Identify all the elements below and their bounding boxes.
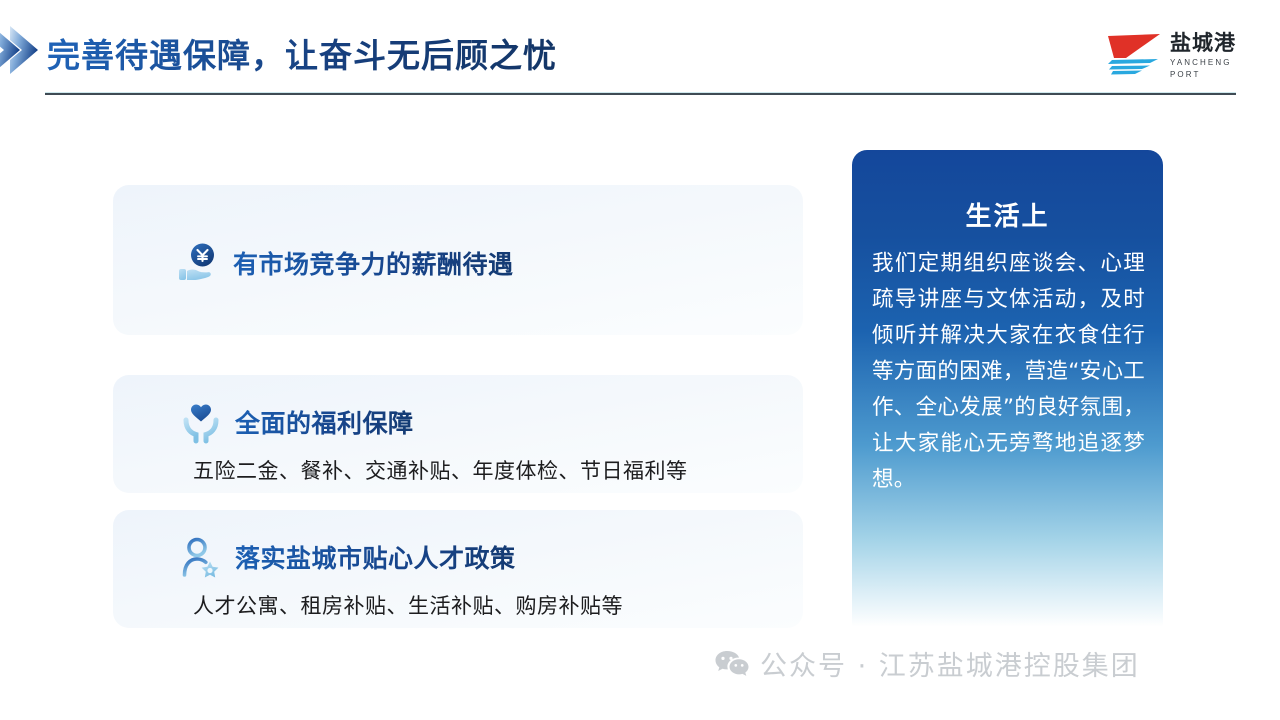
benefit-card-header: 全面的福利保障 (179, 400, 414, 444)
benefit-card: 落实盐城市贴心人才政策 人才公寓、租房补贴、生活补贴、购房补贴等 (113, 510, 803, 628)
slide-header: 完善待遇保障，让奋斗无后顾之忧 (0, 0, 1280, 104)
watermark-label: 公众号 · 江苏盐城港控股集团 (760, 644, 1140, 683)
brand-name-cn: 盐城港 (1170, 31, 1254, 55)
header-divider (45, 92, 1236, 95)
slide-root: 完善待遇保障，让奋斗无后顾之忧 盐城港 YANCHENG PORT (0, 0, 1280, 720)
brand-logo: 盐城港 YANCHENG PORT (1104, 28, 1252, 78)
page-title: 完善待遇保障，让奋斗无后顾之忧 (47, 29, 557, 77)
heart-in-hands-icon (179, 400, 223, 444)
panel-body-text: 我们定期组织座谈会、心理疏导讲座与文体活动，及时倾听并解决大家在衣食住行等方面的… (872, 246, 1145, 498)
wechat-watermark: 公众号 · 江苏盐城港控股集团 (714, 644, 1140, 683)
benefit-card-list: 有市场竞争力的薪酬待遇 (113, 185, 803, 628)
wechat-icon (714, 649, 750, 679)
panel-title: 生活上 (852, 196, 1163, 233)
person-with-star-badge-icon (179, 535, 223, 579)
brand-name-en: YANCHENG PORT (1170, 57, 1254, 81)
benefit-card-title: 落实盐城市贴心人才政策 (235, 539, 516, 575)
life-support-panel: 生活上 我们定期组织座谈会、心理疏导讲座与文体活动，及时倾听并解决大家在衣食住行… (852, 150, 1163, 627)
benefit-card-body: 人才公寓、租房补贴、生活补贴、购房补贴等 (193, 590, 623, 620)
benefit-card-body: 五险二金、餐补、交通补贴、年度体检、节日福利等 (193, 455, 688, 485)
benefit-card-title: 有市场竞争力的薪酬待遇 (233, 245, 514, 281)
hand-holding-yen-coin-icon (177, 241, 221, 285)
chevron-right-icon (0, 22, 52, 78)
benefit-card: 有市场竞争力的薪酬待遇 (113, 185, 803, 335)
benefit-card-title: 全面的福利保障 (235, 404, 414, 440)
yancheng-port-sail-logo-icon (1104, 30, 1164, 76)
brand-logo-text: 盐城港 YANCHENG PORT (1170, 31, 1254, 81)
benefit-card-header: 有市场竞争力的薪酬待遇 (177, 241, 514, 285)
benefit-card: 全面的福利保障 五险二金、餐补、交通补贴、年度体检、节日福利等 (113, 375, 803, 493)
benefit-card-header: 落实盐城市贴心人才政策 (179, 535, 516, 579)
